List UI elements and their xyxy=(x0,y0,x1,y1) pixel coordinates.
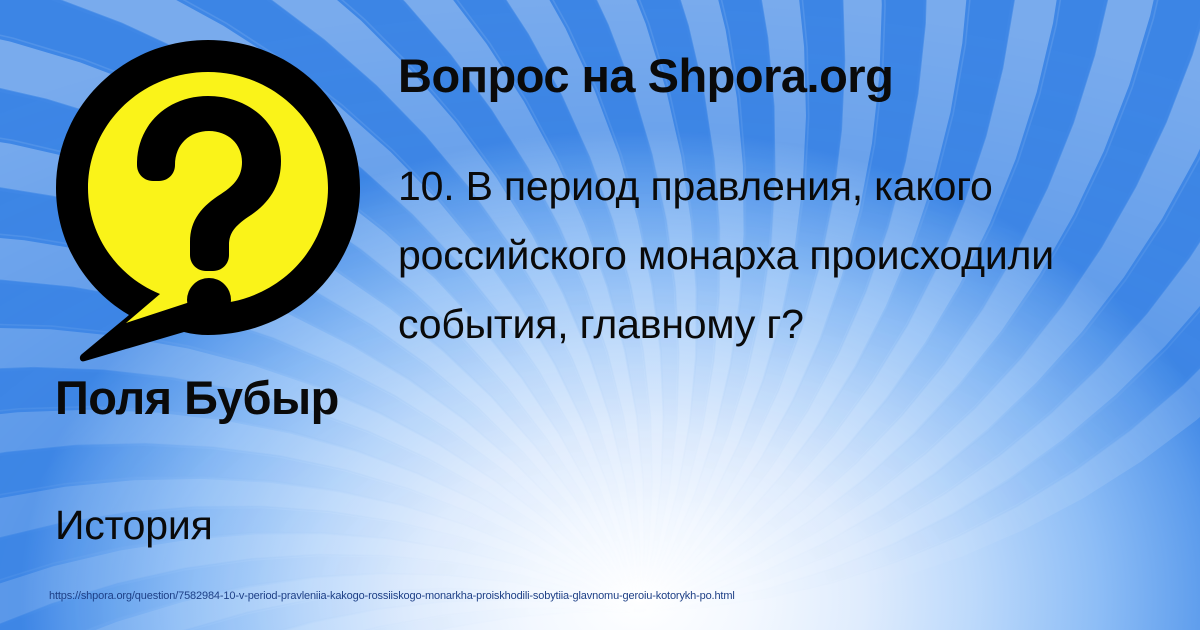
page-title: Вопрос на Shpora.org xyxy=(398,48,893,103)
subject-label: История xyxy=(55,502,213,549)
question-text: 10. В период правления, какого российско… xyxy=(398,152,1200,359)
social-share-card: Вопрос на Shpora.org 10. В период правле… xyxy=(0,0,1200,630)
author-name: Поля Бубыр xyxy=(55,370,385,425)
question-speech-bubble-icon xyxy=(52,36,364,362)
source-url[interactable]: https://shpora.org/question/7582984-10-v… xyxy=(49,590,735,602)
